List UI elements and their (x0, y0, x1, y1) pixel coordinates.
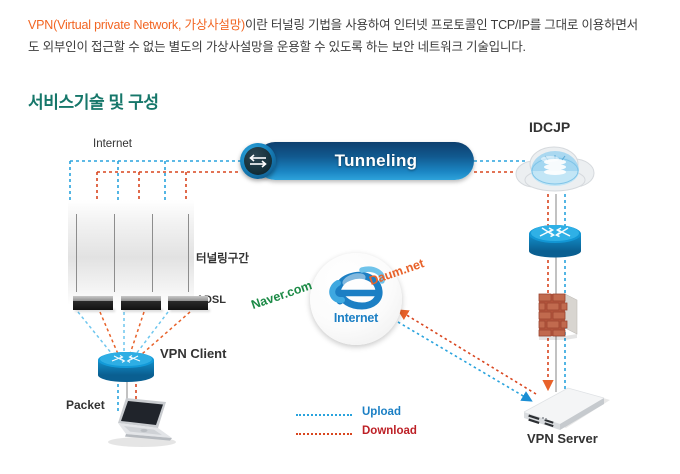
tunnel-zone-label: 터널링구간 (196, 250, 249, 266)
router-icon (526, 218, 584, 258)
legend-label-upload: Upload (362, 406, 401, 418)
bidirectional-arrows-icon (240, 143, 276, 179)
legend-label-download: Download (362, 425, 417, 437)
tunneling-banner: Tunneling (256, 142, 474, 180)
vpn-server-label: VPN Server (527, 431, 598, 446)
upload-line-swatch (296, 414, 352, 416)
firewall-brick-icon (535, 288, 579, 342)
server-icon (518, 386, 614, 432)
vpn-client-label: VPN Client (160, 346, 226, 361)
laptop-icon (100, 392, 180, 448)
adsl-modem-icon (168, 296, 208, 310)
diagram-page: VPN(Virtual private Network, 가상사설망)이란 터널… (0, 0, 680, 474)
adsl-modem-icon (73, 296, 113, 310)
legend: Upload Download (296, 406, 436, 444)
vpn-client-router-icon (96, 350, 156, 382)
bidirectional-arrows-glyph (248, 153, 268, 169)
legend-item-download: Download (296, 425, 436, 444)
tunneling-zone-box (68, 200, 194, 305)
legend-item-upload: Upload (296, 406, 436, 425)
tunneling-label: Tunneling (256, 142, 474, 180)
internet-bus-label: Internet (93, 138, 132, 150)
idcjp-label: IDCJP (529, 119, 570, 135)
cloud-icon (512, 142, 598, 196)
download-line-swatch (296, 433, 352, 435)
packet-label: Packet (66, 398, 105, 412)
internet-circle-label: Internet (310, 311, 402, 325)
adsl-modem-icon (121, 296, 161, 310)
